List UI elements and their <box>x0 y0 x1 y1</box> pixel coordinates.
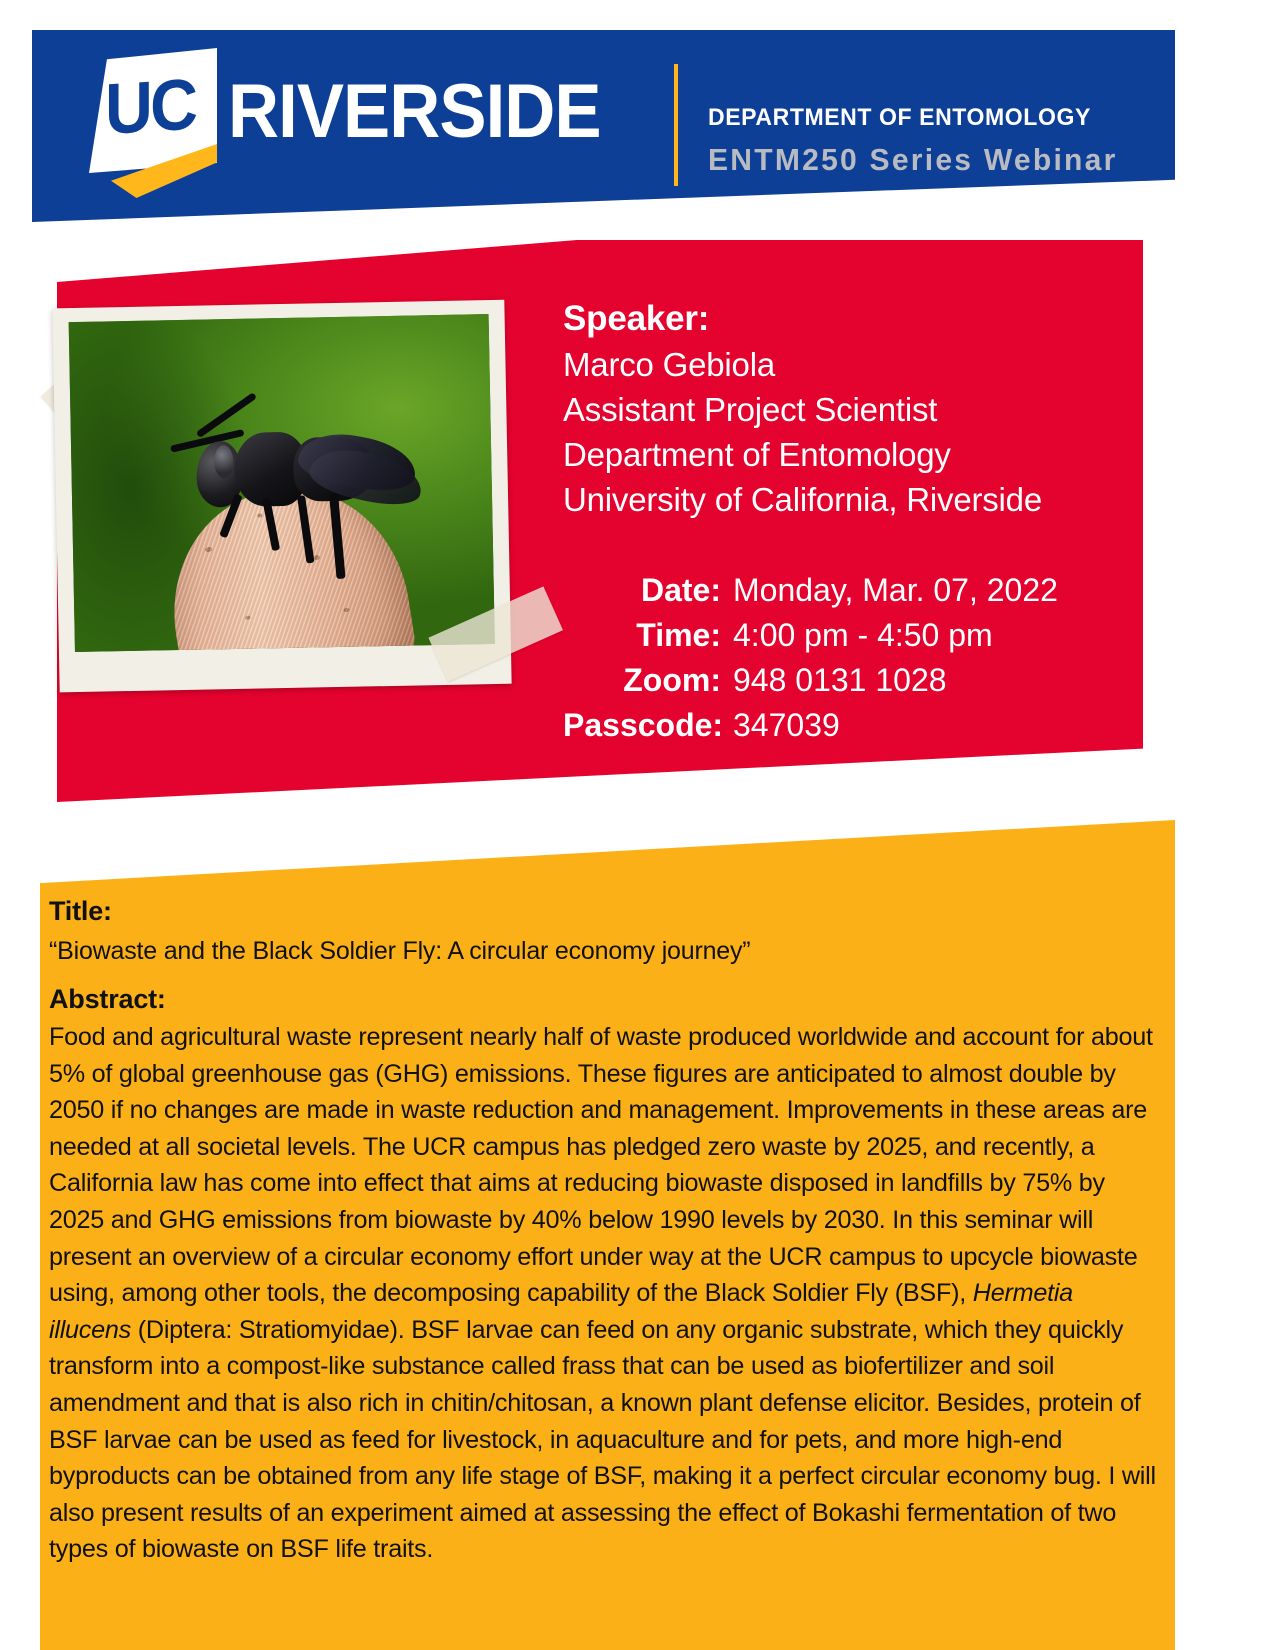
abstract-heading: Abstract: <box>49 981 1161 1017</box>
logo-riverside-text: RIVERSIDE <box>228 74 601 150</box>
passcode-value[interactable]: 347039 <box>733 703 840 748</box>
zoom-label: Zoom: <box>563 658 733 703</box>
time-label: Time: <box>563 613 733 658</box>
speaker-name: Marco Gebiola <box>563 342 1153 387</box>
speaker-photo <box>46 292 524 701</box>
uc-riverside-logo-icon: UC <box>89 48 217 198</box>
detail-row-passcode: Passcode: 347039 <box>563 703 1163 748</box>
speaker-department: Department of Entomology <box>563 432 1153 477</box>
abstract-body: Food and agricultural waste represent ne… <box>49 1019 1161 1568</box>
date-label: Date: <box>563 568 733 613</box>
event-details: Date: Monday, Mar. 07, 2022 Time: 4:00 p… <box>563 568 1163 748</box>
title-section: Title: “Biowaste and the Black Soldier F… <box>49 893 1159 969</box>
detail-row-zoom: Zoom: 948 0131 1028 <box>563 658 1163 703</box>
speaker-heading: Speaker: <box>563 296 1153 342</box>
detail-row-date: Date: Monday, Mar. 07, 2022 <box>563 568 1163 613</box>
talk-title: “Biowaste and the Black Soldier Fly: A c… <box>49 933 1159 969</box>
header-department-label: DEPARTMENT OF ENTOMOLOGY <box>708 104 1091 132</box>
speaker-title: Assistant Project Scientist <box>563 387 1153 432</box>
speaker-institution: University of California, Riverside <box>563 477 1153 522</box>
fly-leg-4 <box>329 492 346 578</box>
logo-uc-text: UC <box>105 69 195 146</box>
header-series-label: ENTM250 Series Webinar <box>708 142 1118 178</box>
fly-antenna-upper <box>195 392 256 438</box>
header-banner: UC RIVERSIDE DEPARTMENT OF ENTOMOLOGY EN… <box>32 30 1175 222</box>
abstract-section: Abstract: Food and agricultural waste re… <box>49 981 1161 1568</box>
time-value: 4:00 pm - 4:50 pm <box>733 613 993 658</box>
abstract-part-1: Food and agricultural waste represent ne… <box>49 1023 1153 1307</box>
date-value: Monday, Mar. 07, 2022 <box>733 568 1058 613</box>
passcode-label: Passcode: <box>563 703 733 748</box>
abstract-part-2: (Diptera: Stratiomyidae). BSF larvae can… <box>49 1316 1156 1564</box>
fly-eye <box>214 445 233 478</box>
fly-body-illustration <box>179 368 452 578</box>
title-heading: Title: <box>49 893 1159 929</box>
fly-leg-3 <box>297 495 314 563</box>
header-divider <box>674 64 678 186</box>
speaker-info: Speaker: Marco Gebiola Assistant Project… <box>563 296 1153 522</box>
detail-row-time: Time: 4:00 pm - 4:50 pm <box>563 613 1163 658</box>
webinar-flyer: UC RIVERSIDE DEPARTMENT OF ENTOMOLOGY EN… <box>0 0 1275 1650</box>
zoom-meeting-id-value[interactable]: 948 0131 1028 <box>733 658 947 703</box>
black-soldier-fly-photo <box>69 314 495 652</box>
